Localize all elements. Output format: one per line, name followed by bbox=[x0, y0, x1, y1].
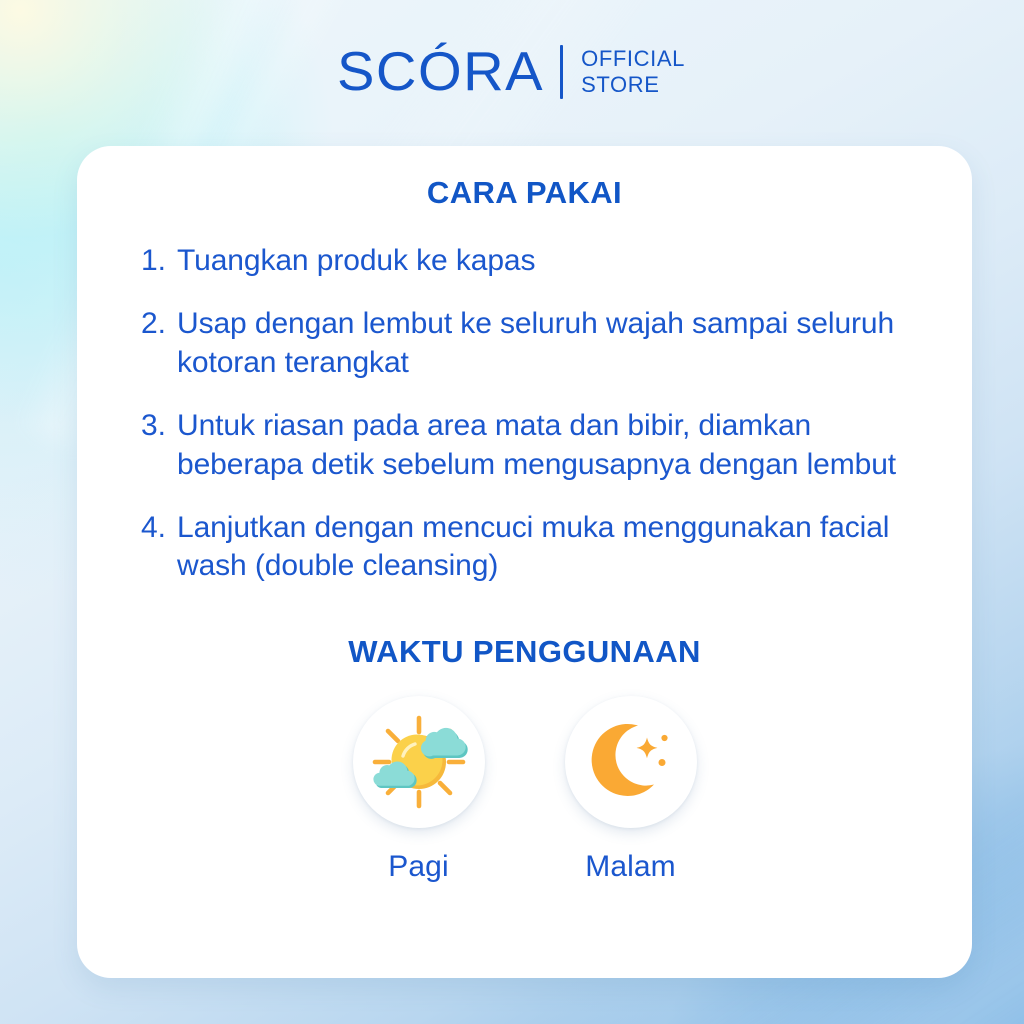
usage-step: 1. Tuangkan produk ke kapas bbox=[141, 242, 922, 280]
step-text: Lanjutkan dengan mencuci muka menggunaka… bbox=[177, 509, 922, 586]
cara-pakai-heading: CARA PAKAI bbox=[105, 175, 944, 211]
step-number: 3. bbox=[141, 407, 177, 445]
step-number: 4. bbox=[141, 509, 177, 547]
usage-time-pagi: Pagi bbox=[353, 696, 485, 884]
crescent-moon-star-icon bbox=[581, 712, 681, 812]
brand-header: SCÓRA OFFICIAL STORE bbox=[0, 44, 1024, 99]
usage-step: 3. Untuk riasan pada area mata dan bibir… bbox=[141, 407, 922, 484]
sun-cloud-icon bbox=[369, 712, 469, 812]
usage-step: 4. Lanjutkan dengan mencuci muka menggun… bbox=[141, 509, 922, 586]
usage-icon-circle bbox=[565, 696, 697, 828]
usage-steps-list: 1. Tuangkan produk ke kapas 2. Usap deng… bbox=[105, 242, 944, 586]
page-background: SCÓRA OFFICIAL STORE CARA PAKAI 1. Tuang… bbox=[0, 0, 1024, 1024]
step-text: Usap dengan lembut ke seluruh wajah samp… bbox=[177, 305, 922, 382]
step-text: Tuangkan produk ke kapas bbox=[177, 242, 922, 280]
content-card: CARA PAKAI 1. Tuangkan produk ke kapas 2… bbox=[77, 146, 972, 978]
brand-logo-wordmark: SCÓRA bbox=[337, 44, 544, 99]
usage-time-row: Pagi Malam bbox=[105, 696, 944, 884]
usage-step: 2. Usap dengan lembut ke seluruh wajah s… bbox=[141, 305, 922, 382]
step-number: 1. bbox=[141, 242, 177, 280]
usage-time-label: Pagi bbox=[388, 850, 448, 884]
waktu-penggunaan-heading: WAKTU PENGGUNAAN bbox=[105, 634, 944, 670]
usage-time-label: Malam bbox=[585, 850, 676, 884]
usage-time-malam: Malam bbox=[565, 696, 697, 884]
step-text: Untuk riasan pada area mata dan bibir, d… bbox=[177, 407, 922, 484]
usage-icon-circle bbox=[353, 696, 485, 828]
brand-logo-subtitle: OFFICIAL STORE bbox=[581, 46, 685, 98]
step-number: 2. bbox=[141, 305, 177, 343]
logo-divider bbox=[560, 45, 563, 99]
